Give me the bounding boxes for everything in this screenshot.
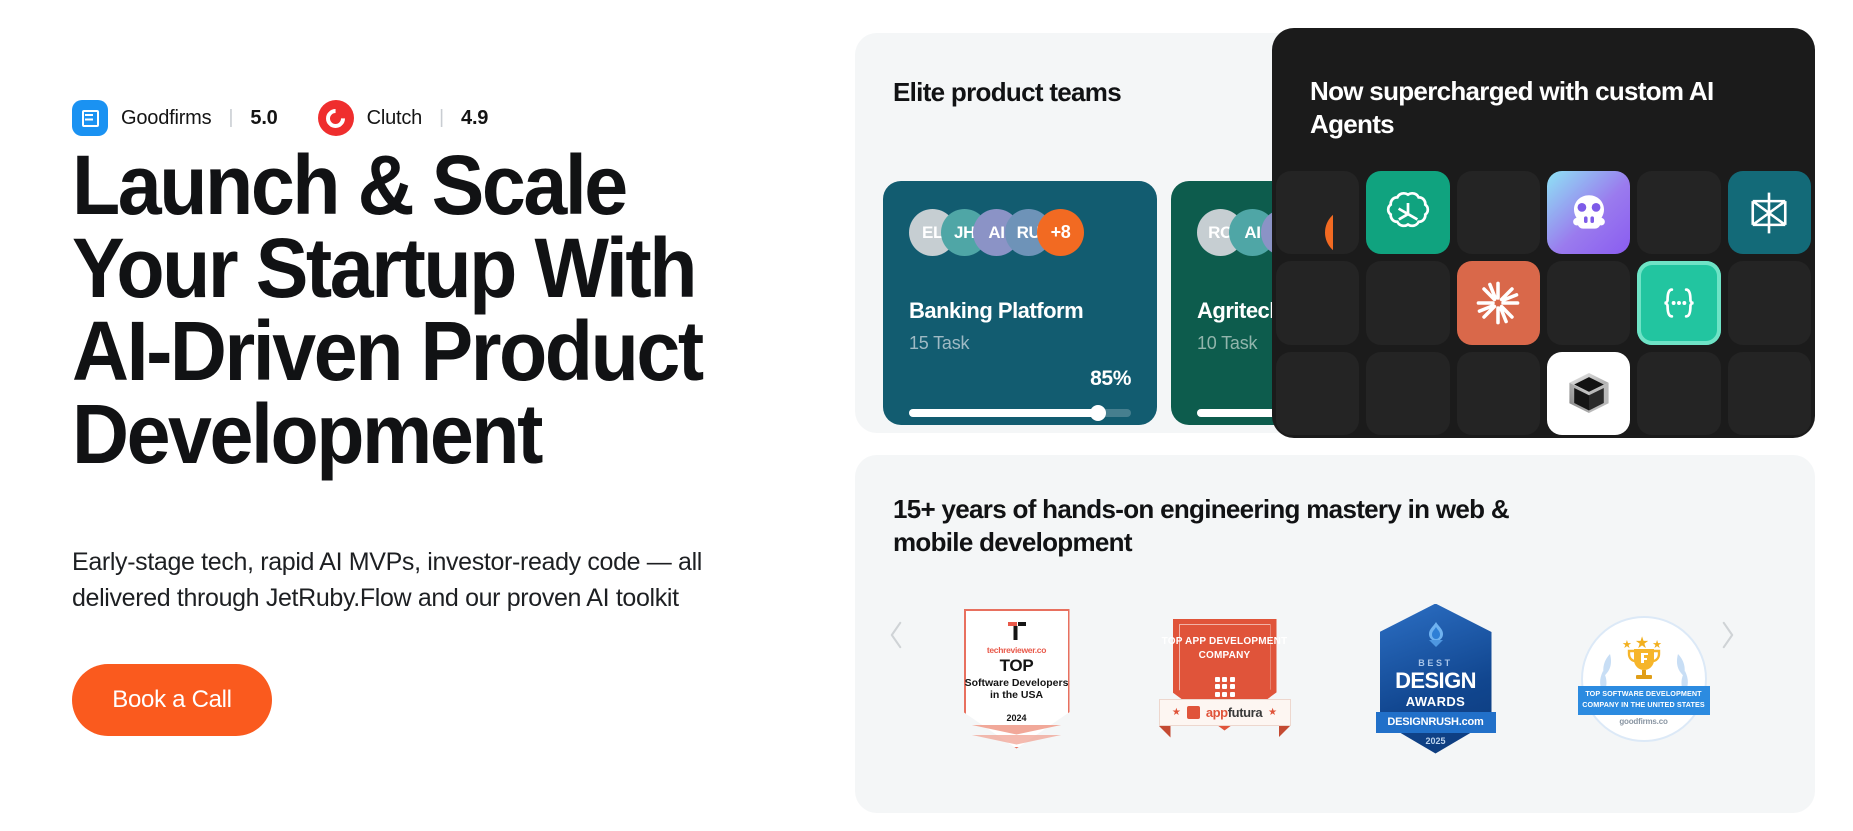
rating-score: 4.9 <box>461 107 488 130</box>
awards-badge-carousel: techreviewer.co TOP Software Developers … <box>919 591 1751 766</box>
empty-tile-icon <box>1276 171 1359 254</box>
badge-awards-label: AWARDS <box>1380 694 1492 709</box>
flame-icon <box>1424 621 1448 651</box>
ai-robot-logo-icon[interactable] <box>1547 171 1630 254</box>
rating-score: 5.0 <box>250 107 277 130</box>
star-icon: ★ <box>1172 707 1181 718</box>
star-icon: ★ <box>1268 707 1277 718</box>
badge-chevron-2 <box>970 735 1064 745</box>
openai-logo-icon[interactable] <box>1366 171 1449 254</box>
progress-knob[interactable] <box>1090 405 1106 421</box>
rating-goodfirms[interactable]: Goodfirms | 5.0 <box>72 100 278 136</box>
top-panels-row: Elite product teams EL JH AI RU +8 Banki… <box>855 33 1815 433</box>
badge-design-label: DESIGN <box>1380 668 1492 694</box>
badge-best-label: BEST <box>1380 658 1492 668</box>
burst-logo-icon[interactable] <box>1457 261 1540 344</box>
progress-fill <box>909 409 1098 417</box>
badge-ribbon: DESIGNRUSH.com <box>1376 712 1496 733</box>
rating-separator: | <box>439 107 444 129</box>
badge-brand: appfutura <box>1206 705 1262 720</box>
badge-line-1: TOP SOFTWARE DEVELOPMENT <box>1585 689 1701 700</box>
award-badge-designrush[interactable]: BEST DESIGN AWARDS DESIGNRUSH.com 2025 <box>1380 604 1492 754</box>
ratings-row: Goodfirms | 5.0 Clutch | 4.9 <box>72 100 488 136</box>
badge-year: 2024 <box>964 713 1070 723</box>
badge-line-2: COMPANY IN THE UNITED STATES <box>1582 700 1704 711</box>
ribbon-tail-left <box>1159 726 1171 738</box>
empty-tile-icon <box>1276 261 1359 344</box>
project-cards-strip: EL JH AI RU +8 Banking Platform 15 Task … <box>883 181 1333 425</box>
teams-card-title: Elite product teams <box>893 77 1193 109</box>
ai-agents-card: Now supercharged with custom AI Agents <box>1272 28 1815 438</box>
trophy-icon <box>1626 647 1662 681</box>
hero-right-column: Elite product teams EL JH AI RU +8 Banki… <box>855 33 1815 813</box>
ribbon-tail-right <box>1279 726 1291 738</box>
chevron-left-icon[interactable] <box>879 605 913 665</box>
project-progress-label: 85% <box>1090 367 1131 391</box>
hero-left-column: Goodfirms | 5.0 Clutch | 4.9 Launch & Sc… <box>72 0 812 831</box>
cube-logo-icon[interactable] <box>1547 352 1630 435</box>
empty-tile-icon <box>1728 352 1811 435</box>
book-a-call-button[interactable]: Book a Call <box>72 664 272 736</box>
project-name: Banking Platform <box>909 298 1083 324</box>
empty-tile-icon <box>1728 261 1811 344</box>
avatar-overflow-count: +8 <box>1037 209 1084 256</box>
agents-card-title: Now supercharged with custom AI Agents <box>1310 75 1730 140</box>
hero-subtitle: Early-stage tech, rapid AI MVPs, investo… <box>72 545 762 616</box>
rating-clutch[interactable]: Clutch | 4.9 <box>318 100 489 136</box>
hero-page: Goodfirms | 5.0 Clutch | 4.9 Launch & Sc… <box>0 0 1853 831</box>
awards-card: 15+ years of hands-on engineering master… <box>855 455 1815 813</box>
empty-tile-icon <box>1366 261 1449 344</box>
empty-tile-icon <box>1366 352 1449 435</box>
empty-tile-icon <box>1276 352 1359 435</box>
award-badge-goodfirms[interactable]: ★★★ TOP SOFTWARE DEVELOPMENT COMPANY IN … <box>1581 616 1707 742</box>
badge-ribbon: ★ appfutura ★ <box>1159 699 1291 726</box>
page-title: Launch & Scale Your Startup With AI-Driv… <box>72 144 768 477</box>
grid-dots-icon <box>1215 677 1235 697</box>
elite-product-teams-card: Elite product teams EL JH AI RU +8 Banki… <box>855 33 1333 433</box>
empty-tile-icon <box>1637 171 1720 254</box>
project-task-count: 15 Task <box>909 333 969 354</box>
badge-site: goodfirms.co <box>1581 717 1707 726</box>
badge-chevron-1 <box>970 725 1064 735</box>
empty-tile-icon <box>1637 352 1720 435</box>
empty-tile-icon <box>1547 261 1630 344</box>
project-progress-bar[interactable] <box>909 409 1131 417</box>
badge-site: DESIGNRUSH.com <box>1387 716 1483 728</box>
badge-lines: Software Developers in the USA <box>964 677 1070 703</box>
badge-title: TOP APP DEVELOPMENT COMPANY <box>1159 635 1291 664</box>
rating-name: Clutch <box>367 107 423 130</box>
clutch-logo-icon <box>318 100 354 136</box>
badge-year: 2025 <box>1380 736 1492 746</box>
appfutura-mark-icon <box>1187 706 1200 719</box>
empty-tile-icon <box>1457 171 1540 254</box>
awards-card-title: 15+ years of hands-on engineering master… <box>893 493 1533 559</box>
badge-top-label: TOP <box>964 656 1070 676</box>
json-braces-icon[interactable] <box>1637 261 1720 344</box>
asterisk-logo-icon[interactable] <box>1728 171 1811 254</box>
award-badge-appfutura[interactable]: TOP APP DEVELOPMENT COMPANY ★ appfutura … <box>1159 613 1291 745</box>
award-badge-techreviewer[interactable]: techreviewer.co TOP Software Developers … <box>964 609 1070 749</box>
badge-ribbon: TOP SOFTWARE DEVELOPMENT COMPANY IN THE … <box>1578 686 1710 715</box>
techreviewer-logo-icon <box>1004 620 1030 642</box>
project-task-count: 10 Task <box>1197 333 1257 354</box>
rating-separator: | <box>228 107 233 129</box>
project-card-banking[interactable]: EL JH AI RU +8 Banking Platform 15 Task … <box>883 181 1157 425</box>
rating-name: Goodfirms <box>121 107 211 130</box>
goodfirms-logo-icon <box>72 100 108 136</box>
ai-tools-grid <box>1272 171 1815 435</box>
badge-site: techreviewer.co <box>964 645 1070 655</box>
empty-tile-icon <box>1457 352 1540 435</box>
avatar-group: EL JH AI RU +8 <box>909 209 1131 256</box>
